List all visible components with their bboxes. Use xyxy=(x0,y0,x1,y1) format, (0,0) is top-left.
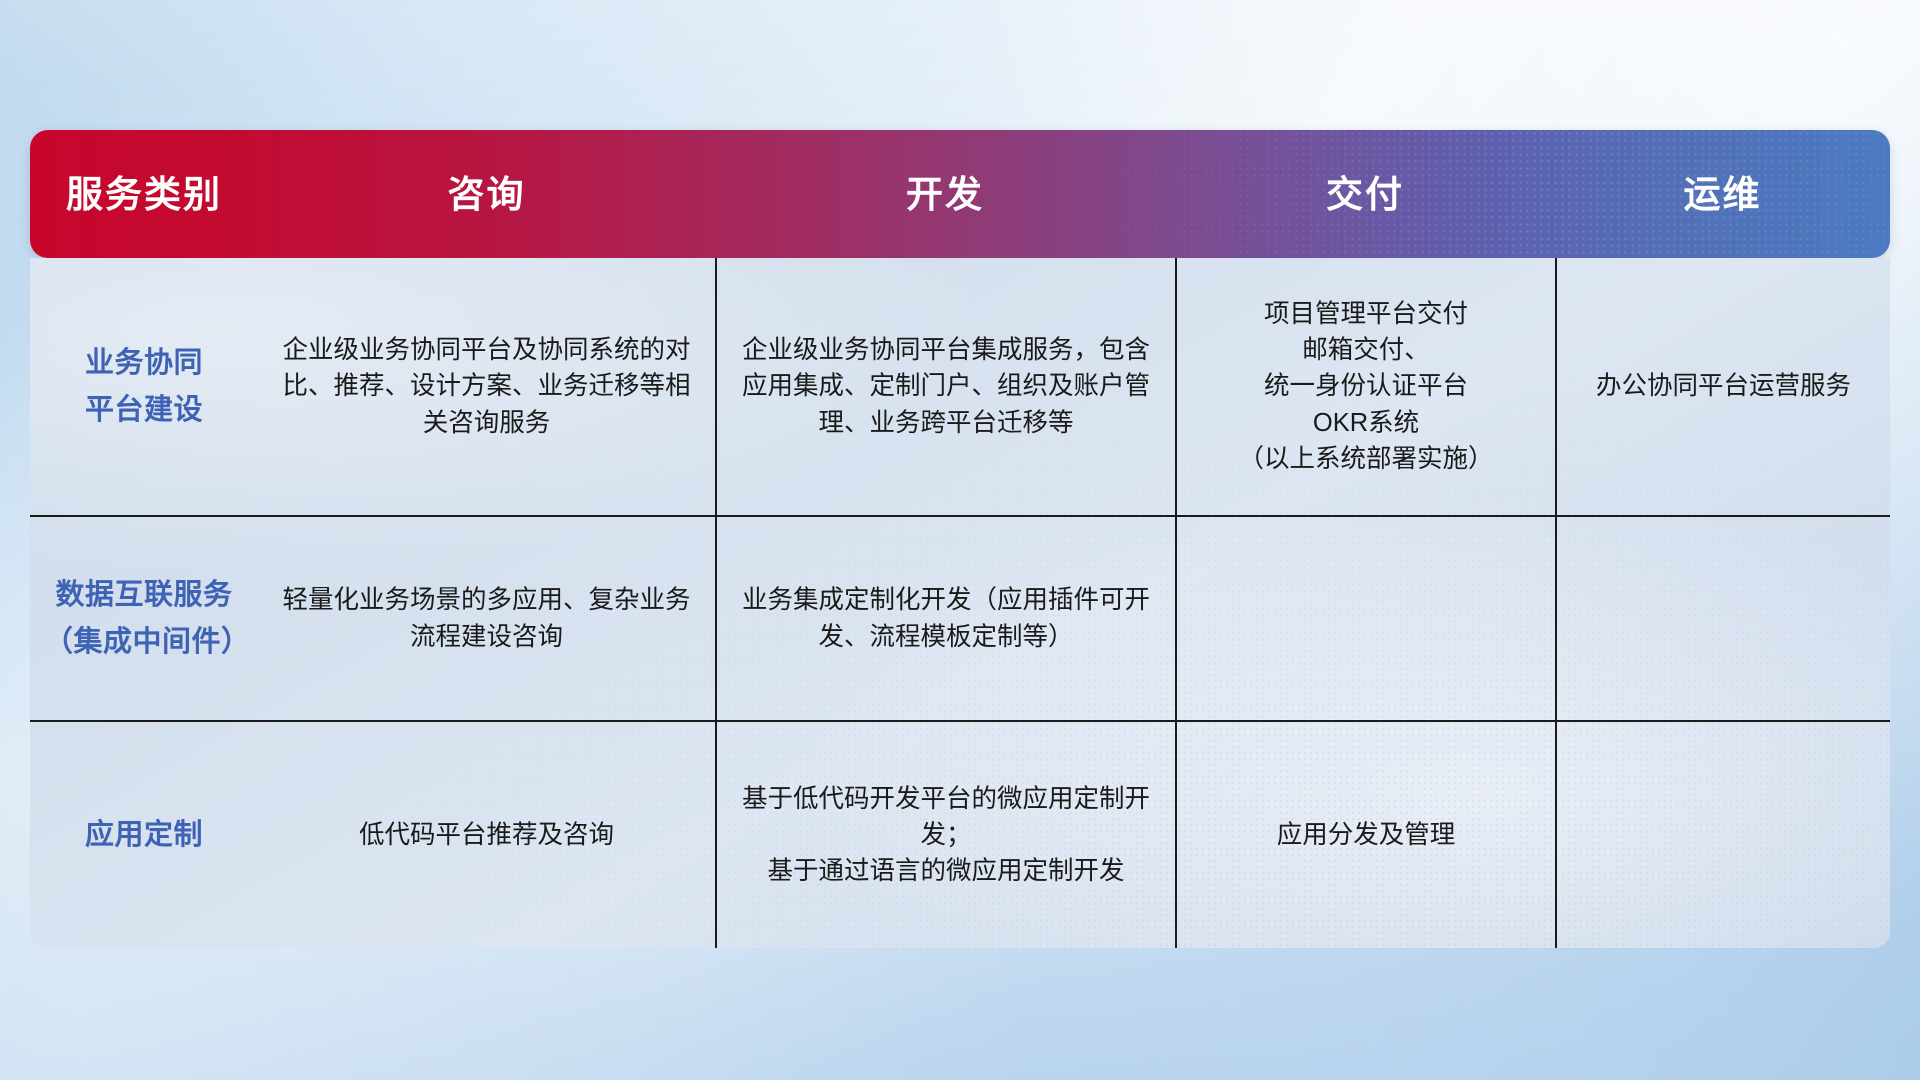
column-header-category: 服务类别 xyxy=(30,176,258,213)
delivery-line: （以上系统部署实施） xyxy=(1238,441,1493,477)
development-line: 基于通过语言的微应用定制开发 xyxy=(731,853,1161,889)
category-line: 应用定制 xyxy=(85,812,203,859)
delivery-line: OKR系统 xyxy=(1238,405,1493,441)
column-header-development: 开发 xyxy=(715,176,1175,213)
cell-delivery xyxy=(1175,517,1555,720)
column-header-operations: 运维 xyxy=(1555,176,1890,213)
slide-canvas: 服务类别 咨询 开发 交付 运维 业务协同 平台建设 企业级业务协同平台及协同系… xyxy=(0,0,1920,1080)
row-category-label: 应用定制 xyxy=(30,722,258,948)
cell-operations: 办公协同平台运营服务 xyxy=(1555,258,1890,515)
row-category-label: 数据互联服务 （集成中间件） xyxy=(30,517,258,720)
table-row: 数据互联服务 （集成中间件） 轻量化业务场景的多应用、复杂业务流程建设咨询 业务… xyxy=(30,515,1890,720)
column-header-consulting: 咨询 xyxy=(258,176,715,213)
cell-delivery: 项目管理平台交付 邮箱交付、 统一身份认证平台 OKR系统 （以上系统部署实施） xyxy=(1175,258,1555,515)
cell-development: 企业级业务协同平台集成服务，包含应用集成、定制门户、组织及账户管理、业务跨平台迁… xyxy=(715,258,1175,515)
cell-operations xyxy=(1555,517,1890,720)
category-line: 业务协同 xyxy=(85,340,203,387)
table-row: 业务协同 平台建设 企业级业务协同平台及协同系统的对比、推荐、设计方案、业务迁移… xyxy=(30,258,1890,515)
table-row: 应用定制 低代码平台推荐及咨询 基于低代码开发平台的微应用定制开发； 基于通过语… xyxy=(30,720,1890,948)
cell-consulting: 企业级业务协同平台及协同系统的对比、推荐、设计方案、业务迁移等相关咨询服务 xyxy=(258,258,715,515)
delivery-line: 邮箱交付、 xyxy=(1238,332,1493,368)
category-line: 平台建设 xyxy=(85,387,203,434)
category-line: （集成中间件） xyxy=(44,619,244,666)
services-matrix-table: 服务类别 咨询 开发 交付 运维 业务协同 平台建设 企业级业务协同平台及协同系… xyxy=(30,130,1890,948)
category-line: 数据互联服务 xyxy=(44,572,244,619)
cell-development: 业务集成定制化开发（应用插件可开发、流程模板定制等） xyxy=(715,517,1175,720)
development-line: 基于低代码开发平台的微应用定制开发； xyxy=(731,781,1161,853)
delivery-line: 项目管理平台交付 xyxy=(1238,296,1493,332)
table-body: 业务协同 平台建设 企业级业务协同平台及协同系统的对比、推荐、设计方案、业务迁移… xyxy=(30,258,1890,948)
row-category-label: 业务协同 平台建设 xyxy=(30,258,258,515)
cell-consulting: 低代码平台推荐及咨询 xyxy=(258,722,715,948)
cell-operations xyxy=(1555,722,1890,948)
table-header-row: 服务类别 咨询 开发 交付 运维 xyxy=(30,130,1890,258)
cell-delivery: 应用分发及管理 xyxy=(1175,722,1555,948)
cell-consulting: 轻量化业务场景的多应用、复杂业务流程建设咨询 xyxy=(258,517,715,720)
delivery-line: 统一身份认证平台 xyxy=(1238,368,1493,404)
column-header-delivery: 交付 xyxy=(1175,176,1555,213)
cell-development: 基于低代码开发平台的微应用定制开发； 基于通过语言的微应用定制开发 xyxy=(715,722,1175,948)
